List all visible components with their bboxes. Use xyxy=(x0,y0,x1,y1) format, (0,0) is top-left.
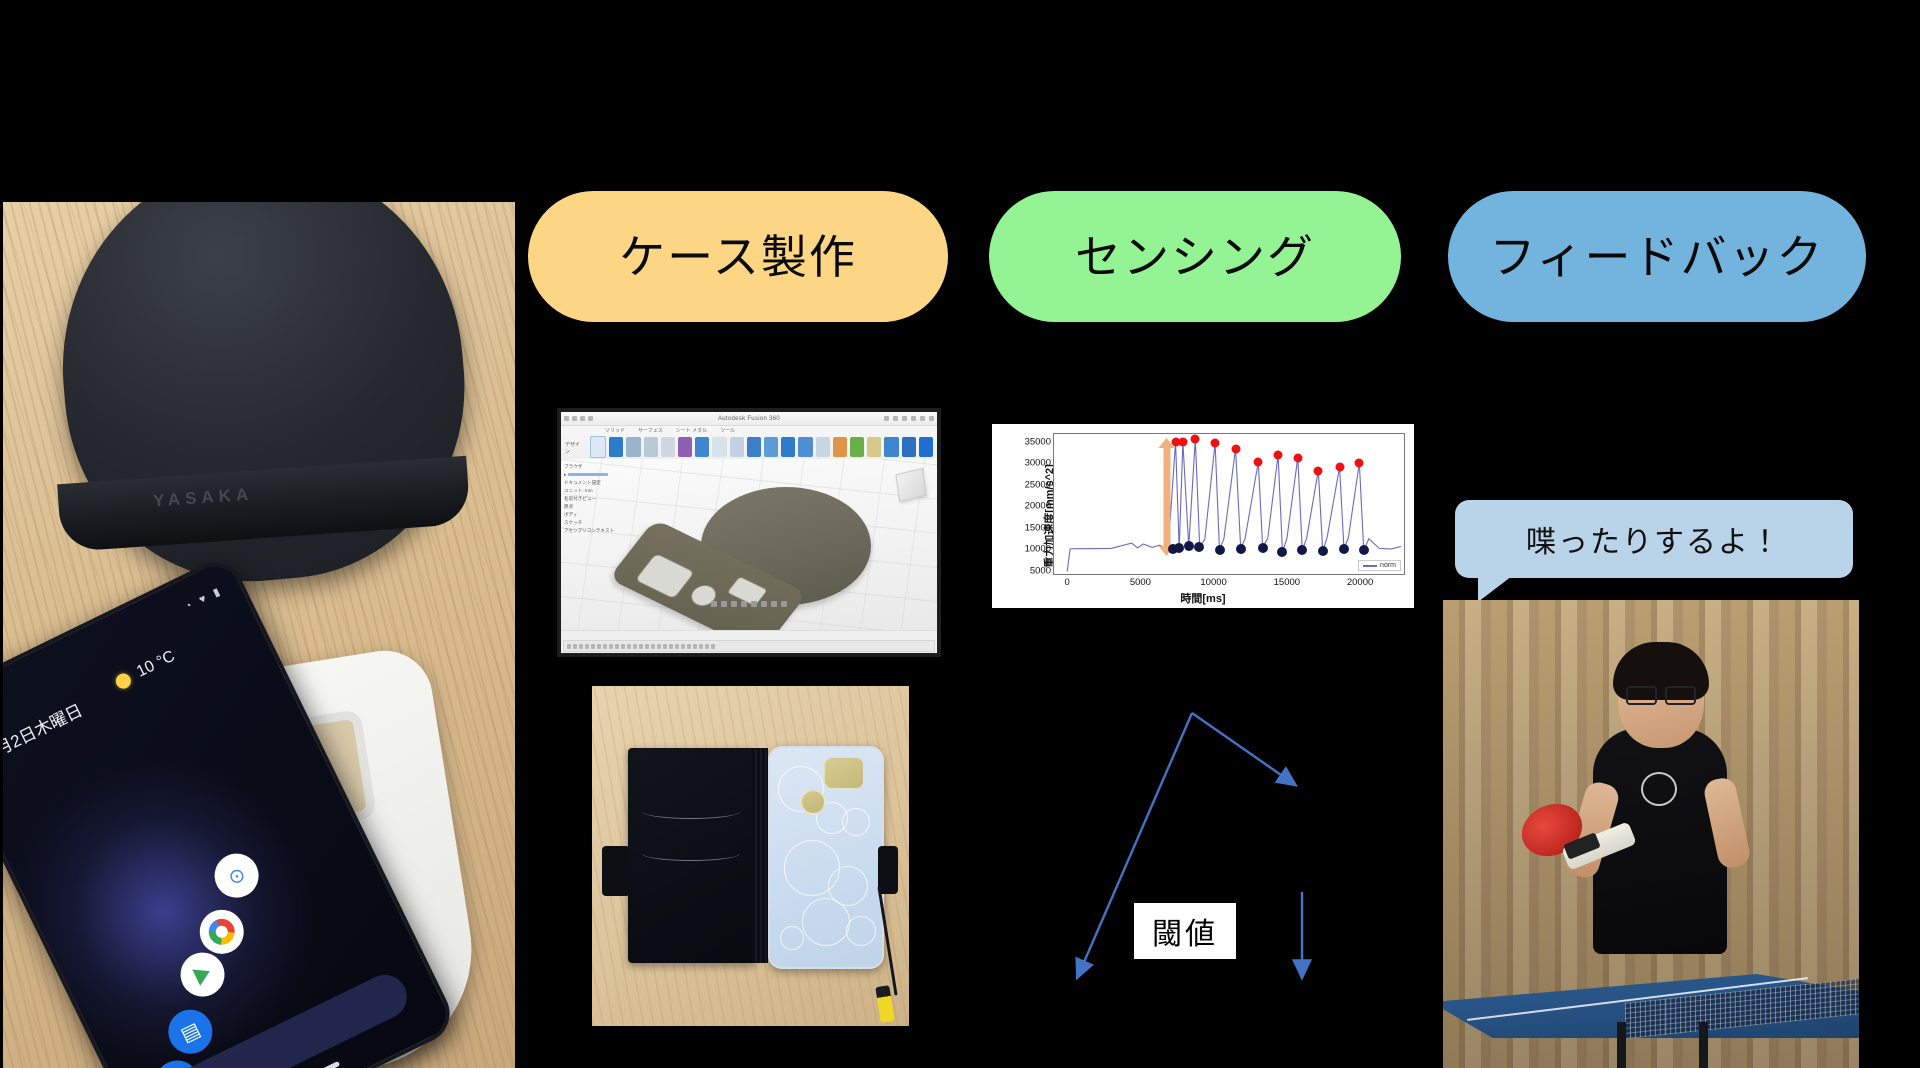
cad-browser-title: ブラウザ xyxy=(564,463,626,471)
cad-tool-loft-icon[interactable] xyxy=(678,437,692,457)
cad-tool-draft-icon[interactable] xyxy=(747,437,761,457)
chart-y-tick: 15000 xyxy=(1025,522,1051,533)
cad-tree-item-7[interactable]: アセンブリコンテキスト xyxy=(564,527,626,535)
cad-tool-shell-icon[interactable] xyxy=(730,437,744,457)
cad-ribbon-toolbar[interactable]: ソリッド サーフェス シート メタル ツール デザイン xyxy=(561,426,937,461)
shirt-logo xyxy=(1641,772,1677,806)
cad-tool-measure-icon[interactable] xyxy=(816,437,830,457)
cad-window-controls[interactable] xyxy=(884,416,934,421)
chart-y-tick: 20000 xyxy=(1025,501,1051,512)
cad-tool-create-icon[interactable] xyxy=(609,437,623,457)
valleys-marker xyxy=(1174,543,1184,553)
chart-x-tick: 15000 xyxy=(1274,577,1300,588)
chart-plot-area: 5000100001500020000250003000035000050001… xyxy=(1053,433,1405,575)
category-pill-case[interactable]: ケース製作 xyxy=(528,191,948,322)
threshold-arrows-svg xyxy=(1030,680,1370,1010)
glasses-icon xyxy=(1626,686,1696,701)
speech-bubble-text: 喋ったりするよ！ xyxy=(1526,517,1782,561)
cad-tool-active-icon[interactable] xyxy=(919,437,933,457)
cad-tool-move-icon[interactable] xyxy=(781,437,795,457)
cad-cutout-grip xyxy=(634,553,695,600)
cad-tree-item-3[interactable]: 名前付きビュー xyxy=(564,495,626,503)
cad-tool-combine-icon[interactable] xyxy=(798,437,812,457)
cad-tool-extrude-icon[interactable] xyxy=(626,437,640,457)
cad-tab-tools[interactable]: ツール xyxy=(720,427,735,434)
cad-tree-item-6[interactable]: スケッチ xyxy=(564,519,626,527)
case-shell-right xyxy=(768,746,884,969)
category-pill-sensing-label: センシング xyxy=(1075,234,1315,280)
case-lens-cutout xyxy=(800,789,826,815)
valleys-marker xyxy=(1277,547,1287,557)
chart-line-norm xyxy=(1067,439,1401,572)
phone-date-label: 12月2日木曜日 xyxy=(3,696,86,768)
cad-tool-insert-icon[interactable] xyxy=(867,437,881,457)
case-tab-right xyxy=(878,846,898,894)
cad-tool-revolve-icon[interactable] xyxy=(644,437,658,457)
speech-bubble-tail xyxy=(1478,576,1512,602)
peaks-marker xyxy=(1335,463,1344,472)
category-pill-sensing[interactable]: センシング xyxy=(989,191,1401,322)
flip-case-photo xyxy=(592,686,909,1026)
cad-viewport[interactable]: ブラウザ ▸ ドキュメント設定 ユニット: mm 名前付きビュー 原点 ボディ … xyxy=(561,459,937,631)
cad-tree-item-0[interactable]: ▸ xyxy=(564,471,626,479)
chart-x-tick: 20000 xyxy=(1347,577,1373,588)
chart-x-tick: 0 xyxy=(1065,577,1070,588)
threshold-label: 閾値 xyxy=(1152,918,1218,951)
cad-title-bar: Autodesk Fusion 360 xyxy=(561,412,937,426)
chart-inner: 重力加速度[mm/s^2] 時間[ms] 5000100001500020000… xyxy=(995,427,1411,605)
chart-y-tick: 35000 xyxy=(1025,436,1051,447)
chart-legend: norm xyxy=(1358,560,1401,571)
cad-tab-surface[interactable]: サーフェス xyxy=(638,427,663,434)
cad-tool-fillet-icon[interactable] xyxy=(695,437,709,457)
peaks-marker xyxy=(1254,457,1263,466)
peaks-marker xyxy=(1355,458,1364,467)
case-camera-cutout xyxy=(824,757,864,789)
cad-tool-sweep-icon[interactable] xyxy=(661,437,675,457)
valleys-marker xyxy=(1215,545,1225,555)
cad-status-bar xyxy=(561,630,937,653)
valleys-marker xyxy=(1258,543,1268,553)
threshold-range-arrow xyxy=(1163,447,1170,547)
case-spine xyxy=(752,748,768,963)
valleys-marker xyxy=(1359,545,1369,555)
cad-timeline[interactable] xyxy=(563,640,935,652)
cad-tab-sheetmetal[interactable]: シート メタル xyxy=(676,427,707,434)
table-leg-right xyxy=(1699,1022,1708,1068)
chart-y-tick: 25000 xyxy=(1025,479,1051,490)
cad-model-racket-case xyxy=(623,487,873,647)
cad-tool-chamfer-icon[interactable] xyxy=(712,437,726,457)
table-tennis-table xyxy=(1443,944,1859,1068)
chart-x-tick: 10000 xyxy=(1200,577,1226,588)
threshold-label-box: 閾値 xyxy=(1134,903,1236,959)
peaks-marker xyxy=(1274,451,1283,460)
cad-tool-select-icon[interactable] xyxy=(884,437,898,457)
phone-status-icons: ◔ ♥ ▮ xyxy=(183,584,225,614)
player-photo xyxy=(1443,600,1859,1068)
peaks-marker xyxy=(1231,444,1240,453)
category-pill-feedback[interactable]: フィードバック xyxy=(1448,191,1866,322)
cad-ribbon-tabs[interactable]: ソリッド サーフェス シート メタル ツール xyxy=(605,427,735,434)
speech-bubble: 喋ったりするよ！ xyxy=(1455,500,1853,578)
cad-tree-item-4[interactable]: 原点 xyxy=(564,503,626,511)
cad-tool-sketch-icon[interactable] xyxy=(590,436,606,458)
valleys-marker xyxy=(1236,544,1246,554)
cad-tool-inspect-icon[interactable] xyxy=(850,437,864,457)
chart-series-svg xyxy=(1054,434,1404,574)
chart-y-tick: 5000 xyxy=(1030,565,1051,576)
case-cover-left xyxy=(628,748,756,963)
peaks-marker xyxy=(1191,434,1200,443)
table-leg-left xyxy=(1617,1022,1626,1068)
arrow-down-right xyxy=(1192,713,1294,784)
peaks-marker xyxy=(1293,453,1302,462)
cad-window-title: Autodesk Fusion 360 xyxy=(718,416,780,422)
chart-y-tick: 30000 xyxy=(1025,458,1051,469)
cad-design-menu[interactable]: デザイン xyxy=(565,441,584,455)
cad-window: Autodesk Fusion 360 ソリッド サーフェス シート メタル ツ… xyxy=(561,412,937,653)
weather-icon xyxy=(113,671,133,691)
valleys-marker xyxy=(1297,545,1307,555)
valleys-marker xyxy=(1184,541,1194,551)
peaks-marker xyxy=(1314,466,1323,475)
legend-label-norm: norm xyxy=(1380,562,1396,569)
cad-tool-mirror-icon[interactable] xyxy=(764,437,778,457)
cad-tool-render-icon[interactable] xyxy=(902,437,916,457)
cad-tree-item-1[interactable]: ドキュメント設定 xyxy=(564,479,626,487)
acceleration-chart: 重力加速度[mm/s^2] 時間[ms] 5000100001500020000… xyxy=(992,424,1414,608)
chart-x-tick: 5000 xyxy=(1130,577,1151,588)
cad-tree-item-5[interactable]: ボディ xyxy=(564,511,626,519)
category-pill-feedback-label: フィードバック xyxy=(1489,234,1824,280)
peaks-marker xyxy=(1211,439,1220,448)
threshold-diagram: 閾値 xyxy=(1030,680,1370,1010)
racket-with-phone-photo: YASAKA 12:07 ◔ ♥ ▮ 12月2日木曜日 10 °C ⊙ ▤ ✆ xyxy=(3,202,515,1068)
peaks-marker xyxy=(1178,438,1187,447)
chart-x-axis-label: 時間[ms] xyxy=(995,590,1411,606)
cad-tree-item-2[interactable]: ユニット: mm xyxy=(564,487,626,495)
cad-tool-appearance-icon[interactable] xyxy=(833,437,847,457)
valleys-marker xyxy=(1339,544,1349,554)
cad-quick-access-toolbar[interactable] xyxy=(564,416,593,421)
cad-view-controls[interactable] xyxy=(711,601,787,607)
valleys-marker xyxy=(1194,542,1204,552)
case-tab-left xyxy=(602,846,630,896)
chart-y-tick: 10000 xyxy=(1025,544,1051,555)
valleys-marker xyxy=(1318,546,1328,556)
phone-temperature-label: 10 °C xyxy=(134,648,178,682)
cad-tab-solid[interactable]: ソリッド xyxy=(605,427,625,434)
legend-line-swatch xyxy=(1363,565,1377,567)
cad-browser-panel[interactable]: ブラウザ ▸ ドキュメント設定 ユニット: mm 名前付きビュー 原点 ボディ … xyxy=(561,459,629,631)
category-pill-case-label: ケース製作 xyxy=(619,234,857,280)
cad-screenshot: Autodesk Fusion 360 ソリッド サーフェス シート メタル ツ… xyxy=(557,408,941,657)
